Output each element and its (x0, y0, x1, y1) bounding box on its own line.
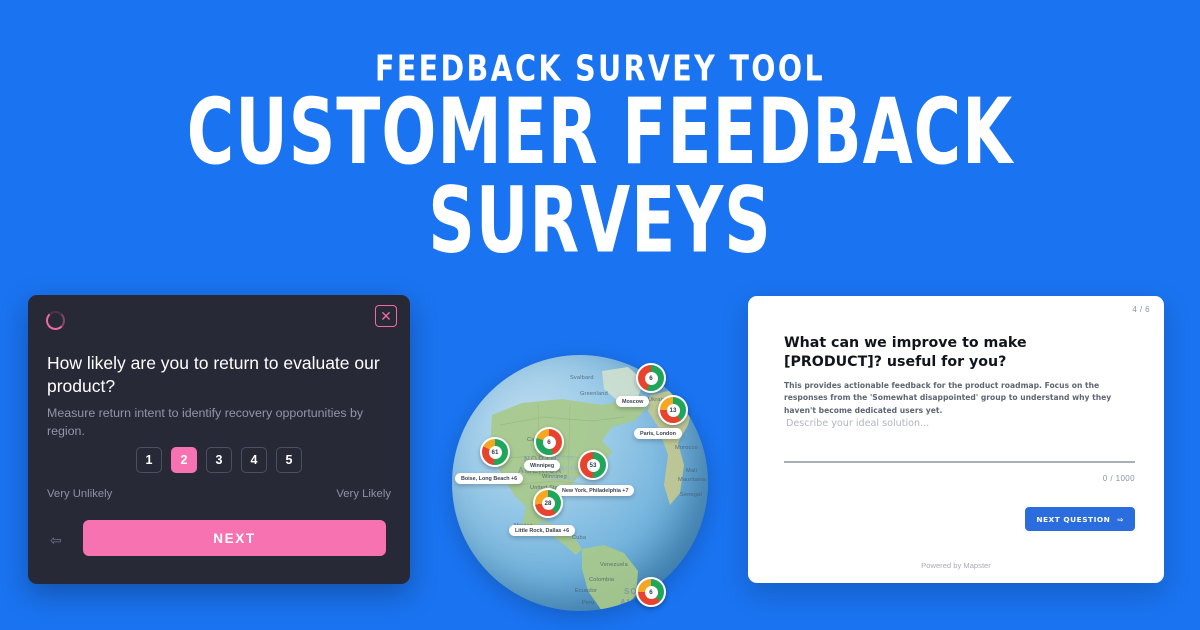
geo-label: Cuba (572, 535, 586, 541)
arrow-right-icon: ⇨ (1117, 515, 1124, 524)
rating-button-1[interactable]: 1 (136, 447, 162, 473)
map-marker-brazil[interactable]: 6 (636, 577, 666, 607)
map-marker-winnipeg[interactable]: 6 (534, 427, 564, 457)
dark-card-question: How likely are you to return to evaluate… (47, 352, 385, 399)
map-marker-newyork[interactable]: 53 (578, 450, 608, 480)
geo-label: Morocco (675, 445, 698, 451)
page-title: Customer Feedback Surveys (12, 89, 1188, 266)
hero-section: Feedback Survey Tool Customer Feedback S… (0, 0, 1200, 241)
close-icon[interactable]: ✕ (375, 305, 397, 327)
map-marker-label-paris[interactable]: Paris, London (634, 428, 682, 439)
answer-input[interactable]: Describe your ideal solution... (786, 418, 929, 429)
marker-value: 6 (645, 586, 658, 599)
donut-chart-icon: 53 (578, 450, 608, 480)
map-marker-label-boise[interactable]: Boise, Long Beach +6 (455, 473, 523, 484)
donut-chart-icon: 28 (533, 488, 563, 518)
map-marker-label-littlerock[interactable]: Little Rock, Dallas +6 (509, 525, 575, 536)
white-survey-card: 4 / 6 What can we improve to make [PRODU… (748, 296, 1164, 583)
white-card-question: What can we improve to make [PRODUCT]? u… (784, 334, 1129, 372)
scale-label-high: Very Likely (336, 488, 391, 500)
ocean-label: Ocean (551, 475, 577, 482)
rating-button-5[interactable]: 5 (276, 447, 302, 473)
marker-value: 13 (667, 404, 680, 417)
donut-chart-icon: 6 (534, 427, 564, 457)
map-marker-littlerock[interactable]: 28 (533, 488, 563, 518)
map-marker-paris[interactable]: 13 (658, 395, 688, 425)
marker-value: 28 (542, 497, 555, 510)
dark-survey-card: ✕ How likely are you to return to evalua… (28, 295, 410, 584)
character-counter: 0 / 1000 (1103, 474, 1135, 483)
geo-label: Colombia (589, 577, 614, 583)
map-marker-boise[interactable]: 61 (480, 437, 510, 467)
geo-label: Svalbard (570, 375, 594, 381)
next-question-button[interactable]: NEXT QUESTION ⇨ (1025, 507, 1135, 531)
donut-chart-icon: 6 (636, 363, 666, 393)
marker-value: 6 (543, 436, 556, 449)
input-underline (784, 461, 1135, 463)
geo-label: Mali (686, 468, 697, 474)
donut-chart-icon: 13 (658, 395, 688, 425)
geo-label: Senegal (680, 492, 702, 498)
marker-value: 61 (489, 446, 502, 459)
geo-label: Venezuela (600, 562, 628, 568)
rating-button-4[interactable]: 4 (241, 447, 267, 473)
dark-card-subtitle: Measure return intent to identify recove… (47, 405, 369, 440)
arrow-left-icon[interactable]: ⇦ (50, 533, 62, 547)
progress-indicator: 4 / 6 (1132, 305, 1150, 314)
geo-label: Mauritania (678, 477, 706, 483)
scale-label-low: Very Unlikely (47, 488, 112, 500)
map-marker-moscow[interactable]: 6 (636, 363, 666, 393)
donut-chart-icon: 6 (636, 577, 666, 607)
geo-label: Ecuador (575, 588, 597, 594)
rating-button-3[interactable]: 3 (206, 447, 232, 473)
donut-chart-icon: 61 (480, 437, 510, 467)
page-title-line-2: Surveys (12, 177, 1188, 265)
geo-label: Greenland (580, 391, 608, 397)
white-card-subtitle: This provides actionable feedback for th… (784, 380, 1126, 417)
map-marker-label-moscow[interactable]: Moscow (616, 396, 649, 407)
map-marker-label-winnipeg[interactable]: Winnipeg (524, 460, 560, 471)
marker-value: 53 (587, 459, 600, 472)
rating-button-2[interactable]: 2 (171, 447, 197, 473)
geo-label: Peru (582, 600, 595, 606)
globe-map[interactable]: SvalbardGreenlandCanadaNORTHAMERICAUnite… (452, 355, 708, 611)
rating-scale: 12345 (28, 447, 410, 473)
next-button[interactable]: NEXT (83, 520, 386, 556)
footer-attribution: Powered by Mapster (748, 561, 1164, 570)
next-question-label: NEXT QUESTION (1036, 515, 1110, 524)
loading-spinner-icon (46, 311, 65, 330)
map-marker-label-newyork[interactable]: New York, Philadelphia +7 (556, 485, 634, 496)
marker-value: 6 (645, 372, 658, 385)
